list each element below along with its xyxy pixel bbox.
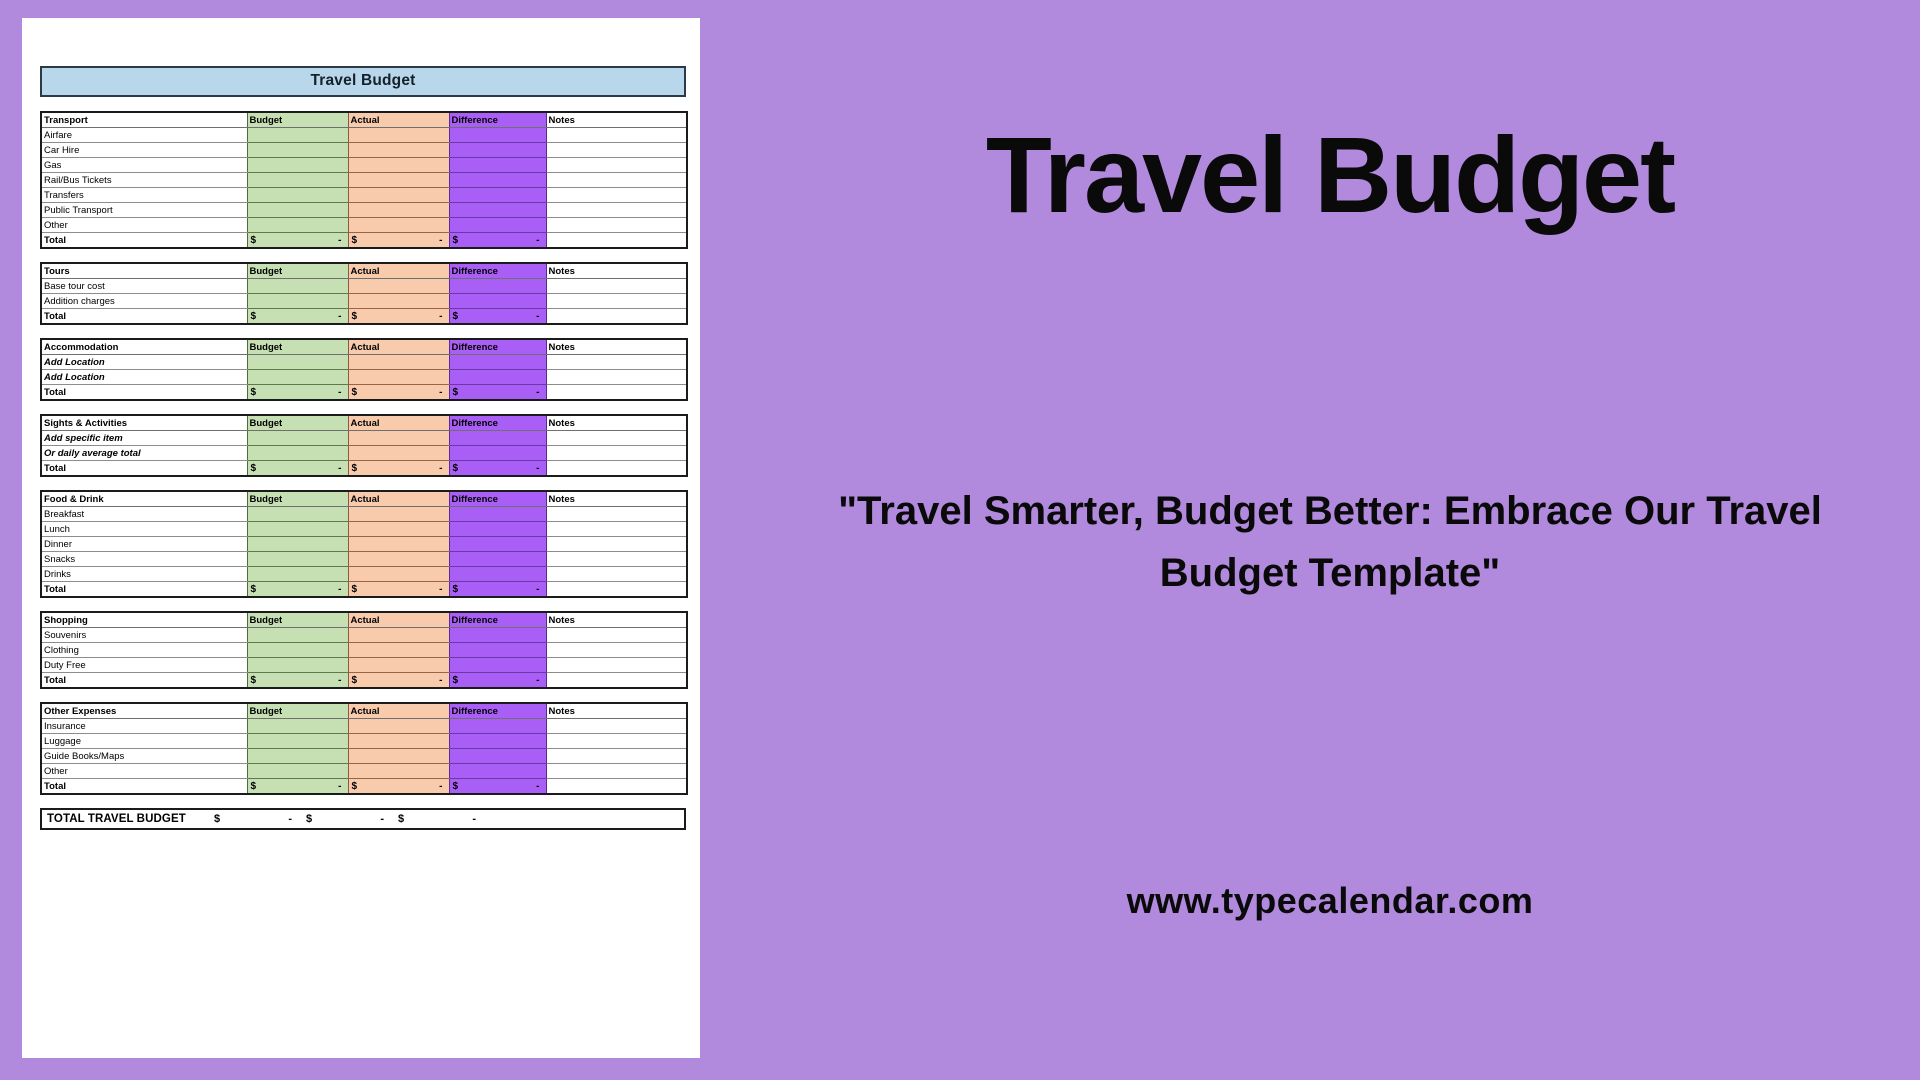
section-total-label: Total [41, 673, 247, 689]
difference-cell [449, 188, 546, 203]
section-table: ToursBudgetActualDifferenceNotesBase tou… [40, 262, 688, 325]
section-title: Sights & Activities [41, 415, 247, 431]
actual-amount: $- [351, 234, 447, 247]
notes-cell[interactable] [546, 719, 687, 734]
section-total-budget: $- [247, 233, 348, 249]
table-row[interactable]: Breakfast [41, 507, 687, 522]
grand-total-row: TOTAL TRAVEL BUDGET $ - $ - $ - [40, 808, 686, 830]
budget-cell[interactable] [247, 188, 348, 203]
budget-amount: $- [250, 583, 346, 596]
difference-cell [449, 143, 546, 158]
row-label: Dinner [41, 537, 247, 552]
grand-total-budget-value: - [288, 813, 292, 825]
grand-total-budget: $ - [214, 813, 306, 825]
budget-cell[interactable] [247, 537, 348, 552]
actual-cell[interactable] [348, 552, 449, 567]
amount-value: - [536, 780, 539, 793]
promo-quote: "Travel Smarter, Budget Better: Embrace … [810, 480, 1850, 604]
section-total-row: Total$-$-$- [41, 779, 687, 795]
notes-cell[interactable] [546, 279, 687, 294]
currency-symbol: $ [214, 813, 220, 825]
notes-cell[interactable] [546, 522, 687, 537]
table-row[interactable]: Other [41, 764, 687, 779]
actual-cell[interactable] [348, 567, 449, 582]
section-total-label: Total [41, 385, 247, 401]
budget-cell[interactable] [247, 567, 348, 582]
budget-cell[interactable] [247, 218, 348, 233]
section-total-budget: $- [247, 582, 348, 598]
section-table: Food & DrinkBudgetActualDifferenceNotesB… [40, 490, 688, 598]
notes-cell[interactable] [546, 537, 687, 552]
section-title: Other Expenses [41, 703, 247, 719]
currency-symbol: $ [453, 310, 459, 323]
difference-cell [449, 522, 546, 537]
row-label: Public Transport [41, 203, 247, 218]
notes-cell[interactable] [546, 128, 687, 143]
budget-section: ShoppingBudgetActualDifferenceNotesSouve… [40, 611, 686, 689]
row-label: Breakfast [41, 507, 247, 522]
table-row[interactable]: Souvenirs [41, 628, 687, 643]
section-total-row: Total$-$-$- [41, 461, 687, 477]
section-total-label: Total [41, 309, 247, 325]
difference-cell [449, 446, 546, 461]
actual-cell[interactable] [348, 749, 449, 764]
actual-cell[interactable] [348, 294, 449, 309]
section-header-row: TransportBudgetActualDifferenceNotes [41, 112, 687, 128]
budget-amount: $- [250, 780, 346, 793]
row-label: Other [41, 218, 247, 233]
budget-sections: TransportBudgetActualDifferenceNotesAirf… [40, 111, 686, 795]
row-label: Car Hire [41, 143, 247, 158]
column-header-difference: Difference [449, 112, 546, 128]
column-header-difference: Difference [449, 415, 546, 431]
budget-cell[interactable] [247, 643, 348, 658]
section-total-difference: $- [449, 582, 546, 598]
column-header-actual: Actual [348, 703, 449, 719]
notes-cell[interactable] [546, 370, 687, 385]
difference-cell [449, 158, 546, 173]
actual-cell[interactable] [348, 628, 449, 643]
section-total-actual: $- [348, 233, 449, 249]
budget-cell[interactable] [247, 173, 348, 188]
budget-cell[interactable] [247, 279, 348, 294]
table-row[interactable]: Airfare [41, 128, 687, 143]
difference-cell [449, 431, 546, 446]
table-row[interactable]: Insurance [41, 719, 687, 734]
actual-cell[interactable] [348, 158, 449, 173]
amount-value: - [536, 583, 539, 596]
actual-cell[interactable] [348, 522, 449, 537]
notes-cell[interactable] [546, 658, 687, 673]
section-header-row: AccommodationBudgetActualDifferenceNotes [41, 339, 687, 355]
amount-value: - [338, 780, 341, 793]
section-total-budget: $- [247, 673, 348, 689]
row-label: Duty Free [41, 658, 247, 673]
table-row[interactable]: Snacks [41, 552, 687, 567]
actual-cell[interactable] [348, 143, 449, 158]
budget-amount: $- [250, 234, 346, 247]
section-total-difference: $- [449, 233, 546, 249]
amount-value: - [439, 583, 442, 596]
budget-cell[interactable] [247, 294, 348, 309]
difference-cell [449, 764, 546, 779]
row-label: Addition charges [41, 294, 247, 309]
amount-value: - [338, 310, 341, 323]
actual-cell[interactable] [348, 173, 449, 188]
amount-value: - [439, 234, 442, 247]
amount-value: - [439, 462, 442, 475]
section-total-budget: $- [247, 309, 348, 325]
section-total-label: Total [41, 779, 247, 795]
notes-cell[interactable] [546, 158, 687, 173]
section-table: Other ExpensesBudgetActualDifferenceNote… [40, 702, 688, 795]
section-total-actual: $- [348, 461, 449, 477]
difference-amount: $- [452, 583, 544, 596]
column-header-budget: Budget [247, 339, 348, 355]
actual-cell[interactable] [348, 507, 449, 522]
notes-cell[interactable] [546, 764, 687, 779]
currency-symbol: $ [352, 674, 358, 687]
table-row[interactable]: Base tour cost [41, 279, 687, 294]
amount-value: - [338, 234, 341, 247]
table-row[interactable]: Gas [41, 158, 687, 173]
row-label: Rail/Bus Tickets [41, 173, 247, 188]
budget-cell[interactable] [247, 658, 348, 673]
column-header-difference: Difference [449, 339, 546, 355]
section-total-difference: $- [449, 673, 546, 689]
section-header-row: Sights & ActivitiesBudgetActualDifferenc… [41, 415, 687, 431]
amount-value: - [338, 583, 341, 596]
budget-amount: $- [250, 310, 346, 323]
currency-symbol: $ [251, 583, 257, 596]
row-label: Guide Books/Maps [41, 749, 247, 764]
actual-cell[interactable] [348, 446, 449, 461]
notes-cell[interactable] [546, 567, 687, 582]
row-label: Lunch [41, 522, 247, 537]
column-header-difference: Difference [449, 263, 546, 279]
table-row[interactable]: Clothing [41, 643, 687, 658]
budget-cell[interactable] [247, 128, 348, 143]
currency-symbol: $ [352, 310, 358, 323]
section-total-row: Total$-$-$- [41, 309, 687, 325]
notes-cell[interactable] [546, 507, 687, 522]
budget-cell[interactable] [247, 203, 348, 218]
section-total-notes [546, 385, 687, 401]
actual-cell[interactable] [348, 431, 449, 446]
spreadsheet-paper: Travel Budget TransportBudgetActualDiffe… [22, 18, 700, 1058]
currency-symbol: $ [453, 583, 459, 596]
difference-cell [449, 734, 546, 749]
row-label: Or daily average total [41, 446, 247, 461]
column-header-notes: Notes [546, 612, 687, 628]
column-header-actual: Actual [348, 263, 449, 279]
amount-value: - [439, 780, 442, 793]
budget-cell[interactable] [247, 628, 348, 643]
actual-cell[interactable] [348, 643, 449, 658]
table-row[interactable]: Other [41, 218, 687, 233]
table-row[interactable]: Public Transport [41, 203, 687, 218]
section-title: Transport [41, 112, 247, 128]
difference-cell [449, 173, 546, 188]
section-total-budget: $- [247, 461, 348, 477]
table-row[interactable]: Dinner [41, 537, 687, 552]
amount-value: - [536, 462, 539, 475]
difference-cell [449, 537, 546, 552]
actual-cell[interactable] [348, 658, 449, 673]
difference-amount: $- [452, 234, 544, 247]
section-header-row: ToursBudgetActualDifferenceNotes [41, 263, 687, 279]
section-table: Sights & ActivitiesBudgetActualDifferenc… [40, 414, 688, 477]
notes-cell[interactable] [546, 143, 687, 158]
notes-cell[interactable] [546, 446, 687, 461]
currency-symbol: $ [453, 780, 459, 793]
column-header-actual: Actual [348, 339, 449, 355]
sheet-title: Travel Budget [40, 66, 686, 97]
grand-total-difference: $ - [398, 813, 490, 825]
budget-cell[interactable] [247, 749, 348, 764]
row-label: Luggage [41, 734, 247, 749]
table-row[interactable]: Rail/Bus Tickets [41, 173, 687, 188]
actual-cell[interactable] [348, 355, 449, 370]
row-label: Transfers [41, 188, 247, 203]
difference-cell [449, 355, 546, 370]
currency-symbol: $ [453, 386, 459, 399]
budget-amount: $- [250, 462, 346, 475]
difference-amount: $- [452, 780, 544, 793]
actual-amount: $- [351, 780, 447, 793]
column-header-budget: Budget [247, 112, 348, 128]
budget-amount: $- [250, 674, 346, 687]
difference-cell [449, 203, 546, 218]
budget-cell[interactable] [247, 719, 348, 734]
table-row[interactable]: Luggage [41, 734, 687, 749]
column-header-actual: Actual [348, 415, 449, 431]
budget-cell[interactable] [247, 507, 348, 522]
section-total-notes [546, 233, 687, 249]
budget-section: Food & DrinkBudgetActualDifferenceNotesB… [40, 490, 686, 598]
table-row[interactable]: Drinks [41, 567, 687, 582]
table-row[interactable]: Addition charges [41, 294, 687, 309]
row-label: Insurance [41, 719, 247, 734]
budget-cell[interactable] [247, 552, 348, 567]
currency-symbol: $ [251, 780, 257, 793]
actual-cell[interactable] [348, 279, 449, 294]
promo-title: Travel Budget [740, 118, 1920, 231]
amount-value: - [439, 310, 442, 323]
budget-cell[interactable] [247, 734, 348, 749]
section-total-notes [546, 779, 687, 795]
table-row[interactable]: Add Location [41, 370, 687, 385]
section-total-difference: $- [449, 385, 546, 401]
budget-cell[interactable] [247, 158, 348, 173]
difference-cell [449, 370, 546, 385]
section-total-actual: $- [348, 673, 449, 689]
amount-value: - [536, 386, 539, 399]
budget-cell[interactable] [247, 446, 348, 461]
currency-symbol: $ [352, 780, 358, 793]
column-header-budget: Budget [247, 415, 348, 431]
notes-cell[interactable] [546, 552, 687, 567]
budget-cell[interactable] [247, 522, 348, 537]
row-label: Snacks [41, 552, 247, 567]
actual-cell[interactable] [348, 537, 449, 552]
section-header-row: Food & DrinkBudgetActualDifferenceNotes [41, 491, 687, 507]
budget-section: Other ExpensesBudgetActualDifferenceNote… [40, 702, 686, 795]
table-row[interactable]: Guide Books/Maps [41, 749, 687, 764]
column-header-actual: Actual [348, 612, 449, 628]
column-header-budget: Budget [247, 703, 348, 719]
section-title: Food & Drink [41, 491, 247, 507]
difference-cell [449, 749, 546, 764]
section-total-row: Total$-$-$- [41, 673, 687, 689]
difference-cell [449, 658, 546, 673]
actual-cell[interactable] [348, 734, 449, 749]
section-table: AccommodationBudgetActualDifferenceNotes… [40, 338, 688, 401]
currency-symbol: $ [251, 674, 257, 687]
section-total-notes [546, 309, 687, 325]
promo-panel: Travel Budget "Travel Smarter, Budget Be… [740, 0, 1920, 1080]
notes-cell[interactable] [546, 734, 687, 749]
section-total-actual: $- [348, 385, 449, 401]
currency-symbol: $ [453, 462, 459, 475]
currency-symbol: $ [352, 462, 358, 475]
section-total-actual: $- [348, 309, 449, 325]
notes-cell[interactable] [546, 628, 687, 643]
actual-cell[interactable] [348, 128, 449, 143]
actual-cell[interactable] [348, 719, 449, 734]
difference-cell [449, 628, 546, 643]
section-total-actual: $- [348, 582, 449, 598]
currency-symbol: $ [453, 234, 459, 247]
budget-cell[interactable] [247, 143, 348, 158]
table-row[interactable]: Add Location [41, 355, 687, 370]
amount-value: - [536, 310, 539, 323]
amount-value: - [338, 674, 341, 687]
notes-cell[interactable] [546, 188, 687, 203]
notes-cell[interactable] [546, 218, 687, 233]
amount-value: - [536, 674, 539, 687]
notes-cell[interactable] [546, 294, 687, 309]
section-total-notes [546, 582, 687, 598]
column-header-budget: Budget [247, 612, 348, 628]
budget-spreadsheet: Travel Budget TransportBudgetActualDiffe… [40, 66, 686, 830]
notes-cell[interactable] [546, 203, 687, 218]
table-row[interactable]: Transfers [41, 188, 687, 203]
grand-total-actual-value: - [380, 813, 384, 825]
row-label: Souvenirs [41, 628, 247, 643]
column-header-difference: Difference [449, 491, 546, 507]
table-row[interactable]: Lunch [41, 522, 687, 537]
section-total-row: Total$-$-$- [41, 385, 687, 401]
actual-cell[interactable] [348, 218, 449, 233]
row-label: Base tour cost [41, 279, 247, 294]
section-title: Tours [41, 263, 247, 279]
row-label: Other [41, 764, 247, 779]
currency-symbol: $ [251, 310, 257, 323]
section-total-label: Total [41, 461, 247, 477]
difference-cell [449, 507, 546, 522]
notes-cell[interactable] [546, 173, 687, 188]
currency-symbol: $ [398, 813, 404, 825]
section-title: Accommodation [41, 339, 247, 355]
section-title: Shopping [41, 612, 247, 628]
section-total-label: Total [41, 582, 247, 598]
notes-cell[interactable] [546, 643, 687, 658]
column-header-notes: Notes [546, 415, 687, 431]
table-row[interactable]: Duty Free [41, 658, 687, 673]
table-row[interactable]: Add specific item [41, 431, 687, 446]
section-total-notes [546, 673, 687, 689]
difference-cell [449, 218, 546, 233]
column-header-notes: Notes [546, 339, 687, 355]
column-header-notes: Notes [546, 263, 687, 279]
currency-symbol: $ [251, 234, 257, 247]
actual-cell[interactable] [348, 203, 449, 218]
amount-value: - [439, 674, 442, 687]
budget-cell[interactable] [247, 355, 348, 370]
section-total-row: Total$-$-$- [41, 233, 687, 249]
column-header-difference: Difference [449, 703, 546, 719]
budget-cell[interactable] [247, 431, 348, 446]
currency-symbol: $ [306, 813, 312, 825]
difference-cell [449, 567, 546, 582]
table-row[interactable]: Or daily average total [41, 446, 687, 461]
section-total-difference: $- [449, 461, 546, 477]
grand-total-difference-value: - [472, 813, 476, 825]
actual-amount: $- [351, 583, 447, 596]
currency-symbol: $ [453, 674, 459, 687]
currency-symbol: $ [352, 386, 358, 399]
difference-cell [449, 279, 546, 294]
column-header-budget: Budget [247, 263, 348, 279]
currency-symbol: $ [352, 234, 358, 247]
budget-cell[interactable] [247, 764, 348, 779]
row-label: Add specific item [41, 431, 247, 446]
actual-amount: $- [351, 462, 447, 475]
currency-symbol: $ [251, 462, 257, 475]
grand-total-actual: $ - [306, 813, 398, 825]
section-total-row: Total$-$-$- [41, 582, 687, 598]
row-label: Airfare [41, 128, 247, 143]
difference-amount: $- [452, 310, 544, 323]
section-total-label: Total [41, 233, 247, 249]
actual-cell[interactable] [348, 370, 449, 385]
actual-cell[interactable] [348, 188, 449, 203]
difference-amount: $- [452, 462, 544, 475]
difference-cell [449, 128, 546, 143]
currency-symbol: $ [251, 386, 257, 399]
section-table: TransportBudgetActualDifferenceNotesAirf… [40, 111, 688, 249]
actual-amount: $- [351, 386, 447, 399]
row-label: Add Location [41, 355, 247, 370]
notes-cell[interactable] [546, 749, 687, 764]
row-label: Drinks [41, 567, 247, 582]
notes-cell[interactable] [546, 355, 687, 370]
difference-cell [449, 643, 546, 658]
grand-total-label: TOTAL TRAVEL BUDGET [42, 813, 214, 825]
column-header-budget: Budget [247, 491, 348, 507]
section-total-budget: $- [247, 385, 348, 401]
actual-cell[interactable] [348, 764, 449, 779]
amount-value: - [536, 234, 539, 247]
column-header-actual: Actual [348, 491, 449, 507]
notes-cell[interactable] [546, 431, 687, 446]
table-row[interactable]: Car Hire [41, 143, 687, 158]
budget-cell[interactable] [247, 370, 348, 385]
actual-amount: $- [351, 310, 447, 323]
promo-website-url[interactable]: www.typecalendar.com [740, 880, 1920, 922]
section-total-notes [546, 461, 687, 477]
